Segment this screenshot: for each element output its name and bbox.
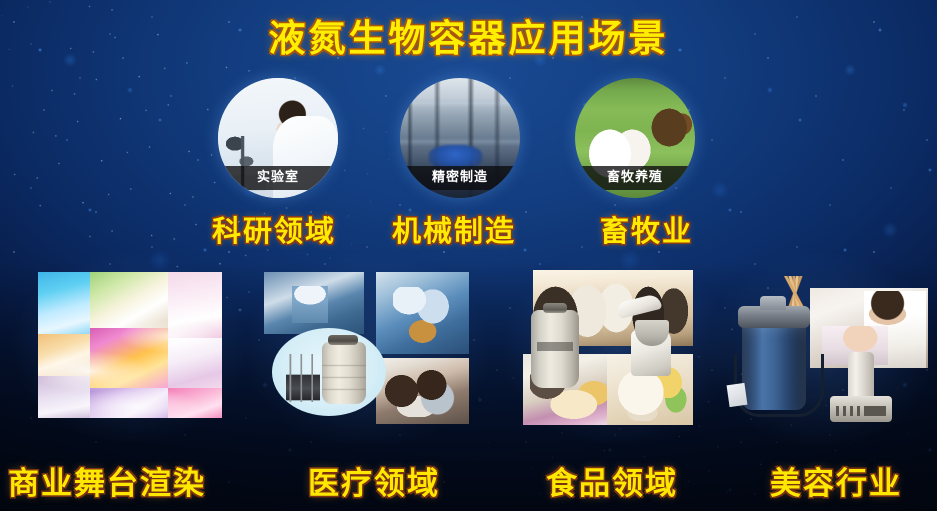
nitrogen-dewar-rings xyxy=(322,358,366,404)
stage-tile xyxy=(90,272,168,328)
label-research: 科研领域 xyxy=(212,208,336,250)
circle-caption-research: 实验室 xyxy=(218,166,338,190)
cryotherapy-machine xyxy=(830,354,892,422)
stage-tile xyxy=(38,376,90,418)
operating-room-photo-tile xyxy=(376,272,469,354)
cryo-equipment-photo-tile xyxy=(376,358,469,424)
stand-mixer-arm xyxy=(616,293,663,319)
beauty-collage[interactable] xyxy=(726,276,931,426)
starfield-small-layer xyxy=(0,0,937,511)
food-nitrogen-dewar xyxy=(531,310,579,388)
stage-tile xyxy=(38,272,90,334)
slide-canvas: 液氮生物容器应用场景 实验室 精密制造 畜牧养殖 科研领域 机械制造 畜牧业 xyxy=(0,0,937,511)
stage-tile xyxy=(168,388,222,418)
cryo-machine-column xyxy=(848,352,874,398)
stage-tile xyxy=(168,338,222,388)
surgery-photo-tile xyxy=(264,272,364,334)
beauty-dewar-neck xyxy=(760,296,786,310)
stage-fog-collage[interactable] xyxy=(38,272,222,418)
label-stage: 商业舞台渲染 xyxy=(8,458,206,503)
beauty-nitrogen-dewar xyxy=(742,318,806,410)
stand-mixer-icon xyxy=(615,292,671,376)
stage-tile xyxy=(168,272,222,338)
starfield-mid-layer xyxy=(0,0,937,511)
label-food: 食品领域 xyxy=(546,458,678,503)
dewar-inset-oval xyxy=(272,328,386,416)
label-livestock: 畜牧业 xyxy=(600,208,693,250)
food-collage[interactable] xyxy=(523,270,693,425)
starfield-bokeh-layer xyxy=(0,0,937,511)
circle-caption-machinery: 精密制造 xyxy=(400,166,520,190)
page-title: 液氮生物容器应用场景 xyxy=(0,8,937,62)
circle-photo-research[interactable]: 实验室 xyxy=(218,78,338,198)
label-medical: 医疗领域 xyxy=(308,458,440,503)
stage-tile xyxy=(90,328,168,388)
circle-photo-livestock[interactable]: 畜牧养殖 xyxy=(575,78,695,198)
sample-canes-icon xyxy=(286,354,320,402)
label-beauty: 美容行业 xyxy=(770,458,902,503)
cryo-machine-controls xyxy=(836,406,886,416)
medical-collage[interactable] xyxy=(264,272,469,424)
circle-photo-machinery[interactable]: 精密制造 xyxy=(400,78,520,198)
beauty-dewar-tag xyxy=(727,383,748,407)
stage-tile xyxy=(38,334,90,376)
stage-tile xyxy=(90,388,168,418)
label-machinery: 机械制造 xyxy=(392,208,516,250)
circle-caption-livestock: 畜牧养殖 xyxy=(575,166,695,190)
nitrogen-dewar-lid xyxy=(328,335,358,345)
